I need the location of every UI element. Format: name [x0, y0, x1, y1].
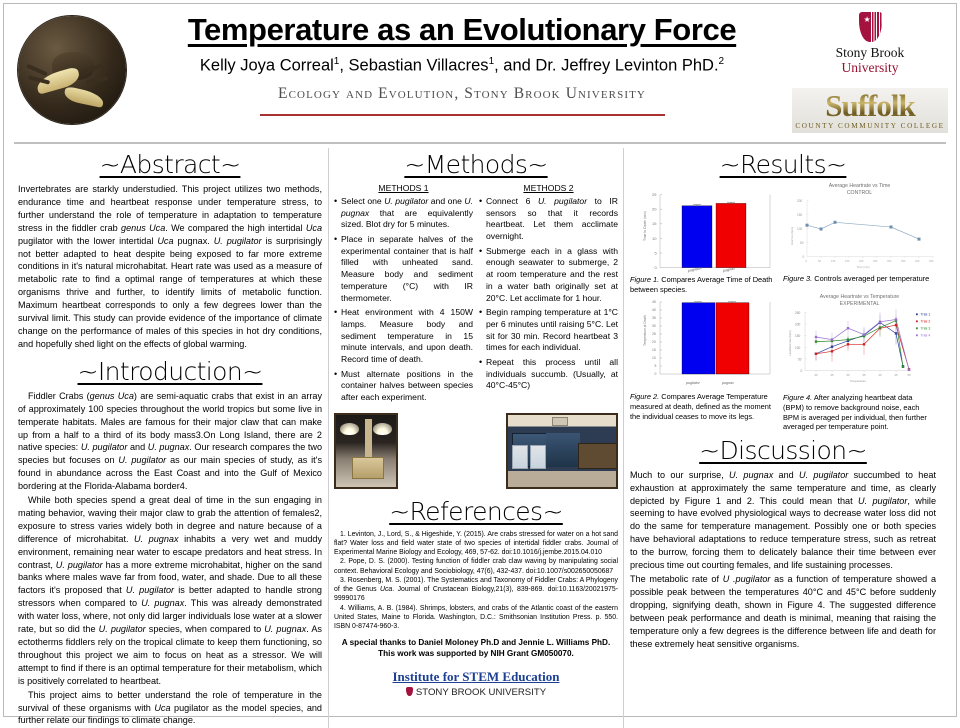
svg-text:5: 5 [655, 250, 658, 255]
svg-text:40: 40 [878, 373, 882, 377]
svg-text:350: 350 [901, 259, 906, 263]
list-item: Place in separate halves of the experime… [334, 234, 473, 304]
svg-text:20: 20 [652, 207, 657, 212]
methods-column-2: METHODS 2 Connect 6 U. pugilator to IR s… [479, 183, 618, 407]
svg-text:25: 25 [830, 373, 834, 377]
figure-4-number: Figure 4. [783, 393, 812, 402]
methods-2-list: Connect 6 U. pugilator to IR sensors so … [479, 196, 618, 392]
svg-text:0: 0 [655, 372, 657, 376]
svg-text:15: 15 [652, 348, 656, 352]
figure-2-cell: 454035 302520 15105 0 [630, 294, 783, 432]
figure-1-chart: 2520 1510 50 [630, 183, 783, 273]
svg-text:50: 50 [818, 259, 821, 263]
figure-3-svg: 200150 10050 0 [783, 196, 938, 272]
section-heading-references: ~References~ [334, 497, 618, 526]
shield-icon: ★ [859, 12, 882, 42]
acknowledgement-line-1: A special thanks to Daniel Moloney Ph.D … [334, 638, 618, 649]
methods-column-1: METHODS 1 Select one U. pugilator and on… [334, 183, 473, 407]
introduction-heading-text: ~Introduction~ [78, 357, 263, 386]
figure-1-cell: 2520 1510 50 [630, 183, 783, 294]
figure-3-cell: Average Heartrate vs Time CONTROL 200150… [783, 183, 936, 294]
author-3-affil-marker: 2 [719, 56, 725, 67]
svg-text:250: 250 [873, 259, 878, 263]
svg-text:50: 50 [800, 241, 804, 245]
poster-header: Temperature as an Evolutionary Force Kel… [4, 4, 956, 142]
discussion-paragraph-1: Much to our surprise, U. pugnax and U. p… [630, 469, 936, 572]
results-figure-grid: 2520 1510 50 [630, 183, 936, 432]
svg-text:20: 20 [652, 340, 656, 344]
column-middle: ~Methods~ METHODS 1 Select one U. pugila… [328, 148, 624, 728]
svg-text:200: 200 [795, 323, 801, 327]
svg-text:450: 450 [929, 259, 934, 263]
methods-1-list: Select one U. pugilator and one U. pugna… [334, 196, 473, 404]
list-item: Repeat this process until all individual… [479, 357, 618, 392]
heartbeat-amplifier-setup-photo [506, 413, 618, 489]
title-block: Temperature as an Evolutionary Force Kel… [132, 12, 792, 116]
methods-heading-text: ~Methods~ [404, 150, 547, 179]
figure-3-number: Figure 3. [783, 274, 812, 283]
figure-4-svg: 250200150 100500 [783, 307, 938, 391]
methods-photo-row [334, 413, 618, 489]
reference-item: 3. Rosenberg, M. S. (2001). The Systemat… [334, 576, 618, 604]
methods-columns: METHODS 1 Select one U. pugilator and on… [334, 183, 618, 407]
legend-label-trial-4: Trial 4 [921, 334, 931, 338]
references-list: 1. Levinton, J., Lord, S., & Higeshide, … [334, 530, 618, 632]
svg-text:30: 30 [846, 373, 850, 377]
list-item: Connect 6 U. pugilator to IR sensors so … [479, 196, 618, 243]
figure-4-caption: Figure 4. After analyzing heartbeat data… [783, 393, 936, 432]
reference-item: 2. Pope, D. S. (2000). Testing function … [334, 557, 618, 576]
column-left: ~Abstract~ Invertebrates are starkly und… [12, 148, 328, 728]
suffolk-county-community-college-logo: Suffolk COUNTY COMMUNITY COLLEGE [792, 88, 948, 133]
fiddler-crab-photo [18, 16, 126, 124]
abstract-heading-text: ~Abstract~ [100, 150, 241, 179]
svg-text:10: 10 [652, 356, 656, 360]
list-item: Begin ramping temperature at 1°C per 6 m… [479, 307, 618, 354]
svg-text:35: 35 [862, 373, 866, 377]
svg-text:300: 300 [887, 259, 892, 263]
results-heading-text: ~Results~ [720, 150, 847, 179]
shield-icon [406, 687, 413, 696]
author-3: , and Dr. Jeffrey Levinton PhD. [494, 57, 718, 75]
heat-lamp-setup-photo [334, 413, 398, 489]
figure-3-chart: Average Heartrate vs Time CONTROL 200150… [783, 183, 936, 272]
stony-brook-logo-line2: University [792, 60, 948, 75]
list-item: Submerge each in a glass with enough sea… [479, 246, 618, 304]
list-item: Must alternate positions in the containe… [334, 369, 473, 404]
figure-1-number: Figure 1. [630, 275, 659, 284]
svg-text:35: 35 [652, 316, 656, 320]
author-1: Kelly Joya Correal [200, 57, 334, 75]
figure-3-caption: Figure 3. Controls averaged per temperat… [783, 274, 936, 284]
stony-brook-logo: ★ Stony Brook University [792, 12, 948, 75]
author-list: Kelly Joya Correal1, Sebastian Villacres… [132, 56, 792, 76]
figure-1-svg: 2520 1510 50 [630, 183, 780, 273]
svg-text:Heartrate (bpm): Heartrate (bpm) [790, 227, 794, 245]
svg-text:0: 0 [655, 265, 658, 270]
svg-text:100: 100 [795, 346, 801, 350]
stem-institute-university: STONY BROOK UNIVERSITY [334, 687, 618, 698]
institute-for-stem-education-logo: Institute for STEM Education STONY BROOK… [334, 669, 618, 698]
svg-text:Heartbeat rate (bpm): Heartbeat rate (bpm) [788, 331, 792, 356]
acknowledgement-line-2: This work was supported by NIH Grant GM0… [334, 649, 618, 660]
discussion-heading-text: ~Discussion~ [699, 436, 867, 465]
figure-4-chart: Average Heartrate vs Temperature EXPERIM… [783, 294, 936, 391]
figure-3-caption-text: Controls averaged per temperature [812, 274, 929, 283]
svg-text:10: 10 [652, 236, 657, 241]
svg-text:5: 5 [655, 364, 657, 368]
figure-4-cell: Average Heartrate vs Temperature EXPERIM… [783, 294, 936, 432]
stony-brook-logo-line1: Stony Brook [792, 45, 948, 60]
svg-text:100: 100 [797, 227, 803, 231]
column-right: ~Results~ 2520 1510 50 [624, 148, 942, 728]
logo-group: ★ Stony Brook University Suffolk COUNTY … [792, 12, 948, 133]
svg-text:Temperature at Death: Temperature at Death [643, 315, 647, 346]
svg-text:150: 150 [797, 213, 803, 217]
introduction-paragraph-2: While both species spend a great deal of… [18, 494, 322, 688]
svg-text:pugilator: pugilator [685, 381, 701, 385]
svg-text:50: 50 [798, 358, 802, 362]
poster-columns: ~Abstract~ Invertebrates are starkly und… [4, 144, 956, 728]
figure-2-number: Figure 2. [630, 392, 659, 401]
svg-text:100: 100 [831, 259, 836, 263]
svg-text:0: 0 [803, 255, 805, 259]
references-heading-text: ~References~ [389, 497, 563, 526]
svg-text:pugnax: pugnax [721, 381, 734, 385]
svg-text:150: 150 [795, 334, 801, 338]
svg-text:400: 400 [915, 259, 920, 263]
svg-text:25: 25 [652, 192, 657, 197]
suffolk-logo-wordmark: Suffolk [794, 92, 946, 121]
svg-text:15: 15 [652, 221, 657, 226]
figure-1-caption: Figure 1. Compares Average Time of Death… [630, 275, 783, 294]
section-heading-results: ~Results~ [630, 150, 936, 179]
svg-text:150: 150 [845, 259, 850, 263]
svg-text:20: 20 [814, 373, 818, 377]
figure-2-chart: 454035 302520 15105 0 [630, 294, 783, 390]
reference-item: 1. Levinton, J., Lord, S., & Higeshide, … [334, 530, 618, 558]
suffolk-logo-subtitle: COUNTY COMMUNITY COLLEGE [794, 122, 946, 130]
list-item: Heat environment with 4 150W lamps. Meas… [334, 307, 473, 365]
svg-text:45: 45 [894, 373, 898, 377]
page-title: Temperature as an Evolutionary Force [132, 12, 792, 48]
svg-text:250: 250 [795, 311, 801, 315]
acknowledgements: A special thanks to Daniel Moloney Ph.D … [334, 638, 618, 660]
affiliation-line: Ecology and Evolution, Stony Brook Unive… [132, 85, 792, 103]
svg-text:25: 25 [652, 332, 656, 336]
stem-university-label: STONY BROOK UNIVERSITY [416, 687, 546, 698]
svg-text:40: 40 [652, 308, 656, 312]
legend-label-trial-2: Trial 2 [921, 320, 931, 324]
svg-text:Time to Death (min): Time to Death (min) [643, 211, 647, 241]
discussion-paragraph-2: The metabolic rate of U .pugilator as a … [630, 573, 936, 650]
introduction-paragraph-1: Fiddler Crabs (genus Uca) are semi-aquat… [18, 390, 322, 493]
abstract-text: Invertebrates are starkly understudied. … [18, 183, 322, 351]
svg-text:50: 50 [907, 373, 911, 377]
introduction-paragraph-3: This project aims to better understand t… [18, 689, 322, 728]
author-2: , Sebastian Villacres [339, 57, 488, 75]
list-item: Select one U. pugilator and one U. pugna… [334, 196, 473, 231]
methods-2-label: METHODS 2 [479, 183, 618, 193]
section-heading-introduction: ~Introduction~ [18, 357, 322, 386]
figure-2-svg: 454035 302520 15105 0 [630, 294, 780, 390]
reference-item: 4. Williams, A. B. (1984). Shrimps, lobs… [334, 604, 618, 632]
svg-text:Temperature: Temperature [850, 379, 867, 383]
svg-text:Time (min): Time (min) [856, 265, 869, 269]
section-heading-abstract: ~Abstract~ [18, 150, 322, 179]
svg-text:0: 0 [801, 369, 803, 373]
stem-institute-name: Institute for STEM Education [334, 669, 618, 685]
figure-2-caption: Figure 2. Compares Average Temperature m… [630, 392, 783, 421]
methods-1-label: METHODS 1 [334, 183, 473, 193]
title-divider [260, 114, 665, 116]
section-heading-methods: ~Methods~ [334, 150, 618, 179]
svg-text:30: 30 [652, 324, 656, 328]
section-heading-discussion: ~Discussion~ [630, 436, 936, 465]
svg-text:45: 45 [652, 300, 656, 304]
svg-text:200: 200 [859, 259, 864, 263]
legend-label-trial-1: Trial 1 [921, 313, 931, 317]
poster-root: Temperature as an Evolutionary Force Kel… [3, 3, 957, 717]
svg-text:0: 0 [806, 259, 808, 263]
svg-text:200: 200 [797, 199, 803, 203]
legend-label-trial-3: Trial 3 [921, 327, 931, 331]
